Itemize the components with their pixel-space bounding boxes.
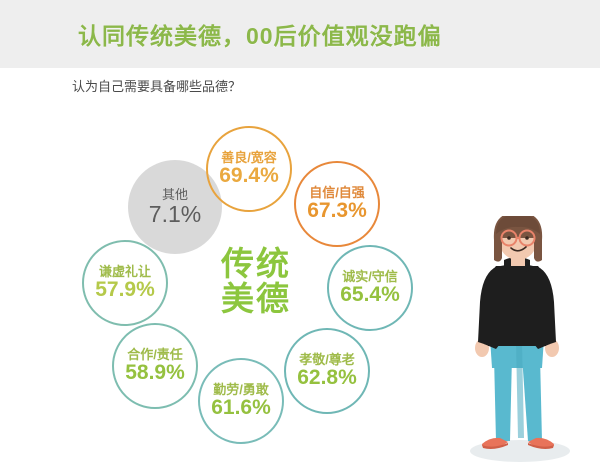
bubble-honesty-label: 诚实/守信: [342, 270, 398, 284]
center-label-line2: 美德: [196, 282, 316, 317]
center-label: 传统 美德: [196, 247, 316, 317]
bubble-diligence[interactable]: 勤劳/勇敢 61.6%: [198, 358, 284, 444]
bubble-modesty[interactable]: 谦虚礼让 57.9%: [82, 240, 168, 326]
bubble-filial-label: 孝敬/尊老: [299, 353, 355, 367]
jeans-right-leg: [522, 356, 542, 441]
bubble-other-value: 7.1%: [149, 202, 201, 226]
bubble-honesty-value: 65.4%: [340, 284, 400, 306]
bubble-confidence-label: 自信/自强: [309, 186, 365, 200]
jeans-left-leg: [494, 356, 512, 441]
bubble-chart: 传统 美德 其他 7.1% 善良/宽容 69.4% 自信/自强 67.3% 诚实…: [0, 0, 440, 473]
bubble-kindness-value: 69.4%: [219, 165, 279, 187]
bubble-honesty[interactable]: 诚实/守信 65.4%: [327, 245, 413, 331]
bubble-diligence-value: 61.6%: [211, 397, 271, 419]
bubble-filial-value: 62.8%: [297, 367, 357, 389]
bubble-kindness-label: 善良/宽容: [221, 151, 277, 165]
bubble-modesty-value: 57.9%: [95, 279, 155, 301]
bubble-modesty-label: 谦虚礼让: [99, 265, 151, 279]
bubble-kindness[interactable]: 善良/宽容 69.4%: [206, 126, 292, 212]
eye-right: [525, 236, 529, 240]
bubble-cooperation-value: 58.9%: [125, 362, 185, 384]
girl-illustration: [438, 216, 598, 466]
infographic-root: 认同传统美德，00后价值观没跑偏 认为自己需要具备哪些品德？ 传统 美德 其他 …: [0, 0, 600, 473]
bubble-confidence[interactable]: 自信/自强 67.3%: [294, 161, 380, 247]
center-label-line1: 传统: [196, 247, 316, 282]
bubble-filial[interactable]: 孝敬/尊老 62.8%: [284, 328, 370, 414]
bubble-cooperation[interactable]: 合作/责任 58.9%: [112, 323, 198, 409]
bubble-diligence-label: 勤劳/勇敢: [213, 383, 269, 397]
bubble-confidence-value: 67.3%: [307, 200, 367, 222]
eye-left: [507, 236, 511, 240]
bubble-other-label: 其他: [162, 188, 188, 202]
bubble-cooperation-label: 合作/责任: [127, 348, 183, 362]
